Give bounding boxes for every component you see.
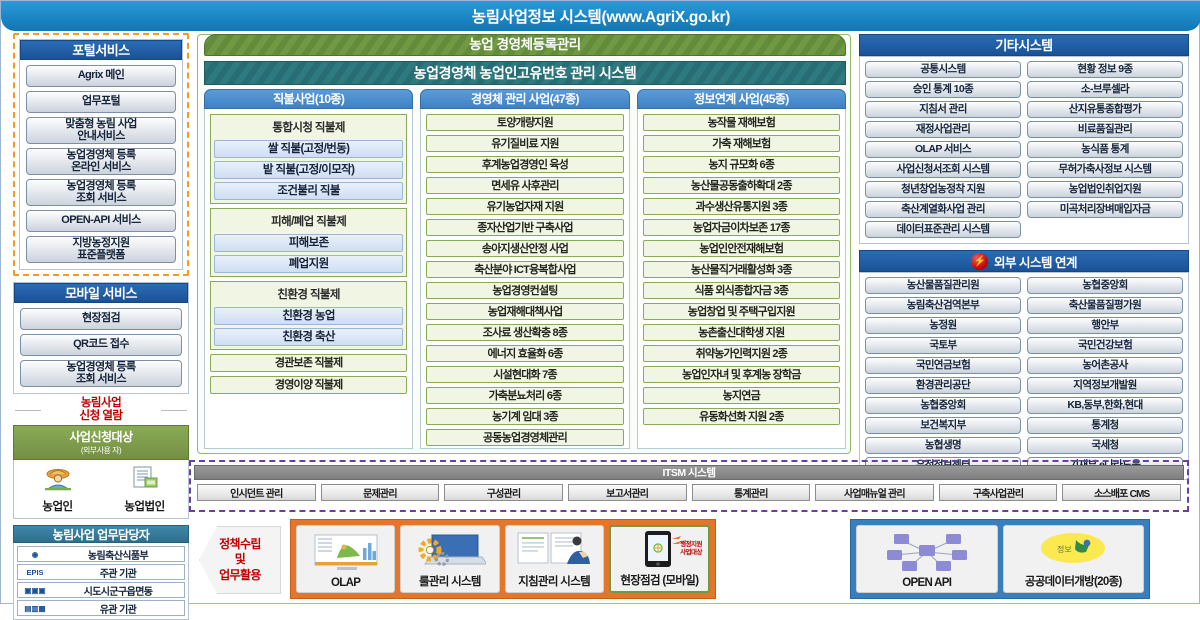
application-target-subtitle: (외부사용 자) [14,445,188,456]
center-columns: 직불사업(10종) 통합시청 직불제쌀 직불(고정/번동)밭 직불(고정/이모작… [204,89,846,449]
external-system-item[interactable]: 국토부 [865,337,1021,354]
portal-item-3[interactable]: 농업경영체 등록온라인 서비스 [26,148,176,175]
arrow-wing-left [15,410,41,411]
epis-logo-icon: EPIS [18,568,52,577]
itsm-item[interactable]: 보고서관리 [568,484,687,501]
direct-payment-group: 친환경 직불제친환경 농업친환경 축산 [210,281,407,350]
column-info-linkage-header: 정보연계 사업(45종) [637,89,846,109]
center-top-title: 농업 경영체등록관리 [204,34,846,56]
info-linkage-item[interactable]: 취약농가인력지원 2종 [643,345,840,362]
staff-row-label: 농림축산식품부 [52,547,184,562]
entity-management-item[interactable]: 시설현대화 7종 [426,366,623,383]
etc-system-item[interactable]: 재정사업관리 [865,121,1021,138]
etc-system-item[interactable]: 무허가축사정보 시스템 [1027,161,1183,178]
info-linkage-item[interactable]: 농지연금 [643,387,840,404]
external-system-item[interactable]: 국민건강보험 [1027,337,1183,354]
info-linkage-item[interactable]: 과수생산유통지원 3종 [643,198,840,215]
external-system-item[interactable]: 행안부 [1027,317,1183,334]
app-card-field-inspection[interactable]: 행정지원사업대상 현장점검 (모바일) [609,525,710,593]
external-system-item[interactable]: 농협중앙회 [1027,277,1183,294]
direct-payment-item[interactable]: 조건불리 직불 [214,182,403,200]
app-card-rule-system[interactable]: 룰관리 시스템 [400,525,499,593]
etc-system-right-list: 현황 정보 9종소-브루셀라산지유통종합평가비료품질관리농식품 통계무허가축사정… [1027,61,1183,238]
itsm-panel: ITSM 시스템 인시던트 관리문제관리구성관리보고서관리통계관리사업매뉴얼 관… [189,460,1189,512]
external-system-item[interactable]: 축산물품질평가원 [1027,297,1183,314]
target-corporation: 농업법인 [101,460,188,518]
direct-payment-solo-item[interactable]: 경관보존 직불제 [210,354,407,372]
direct-payment-item[interactable]: 쌀 직불(고정/번동) [214,140,403,158]
etc-system-item[interactable]: 농식품 통계 [1027,141,1183,158]
staff-panel: 농림사업 업무담당자 ◉농림축산식품부EPIS주관 기관▣▣▣시도시군구읍면동▤… [13,525,189,620]
etc-system-panel: 기타시스템 공통시스템승인 통계 10종지침서 관리재정사업관리OLAP 서비스… [859,34,1189,244]
external-system-item[interactable]: 농산물품질관리원 [865,277,1021,294]
svg-text:정보: 정보 [1057,544,1072,554]
external-system-item[interactable]: 국세청 [1027,437,1183,454]
info-linkage-item[interactable]: 가축 재해보험 [643,135,840,152]
etc-system-item[interactable]: 미곡처리장벼매입자금 [1027,201,1183,218]
info-linkage-item[interactable]: 농업창업 및 주택구입지원 [643,303,840,320]
staff-row-label: 시도시군구읍면동 [52,583,184,598]
entity-management-item[interactable]: 유기질비료 지원 [426,135,623,152]
application-target-body: 농업인 농업법인 [13,460,189,519]
info-linkage-item[interactable]: 농업인자녀 및 후계농 장학금 [643,366,840,383]
external-system-item[interactable]: 농정원 [865,317,1021,334]
itsm-item[interactable]: 사업매뉴얼 관리 [815,484,934,501]
mobile-item-1[interactable]: QR코드 접수 [20,334,182,356]
local-gov-icon: ▣▣▣ [18,586,52,595]
itsm-header: ITSM 시스템 [194,465,1184,480]
related-org-icon: ▤▥▦ [18,604,52,613]
external-system-item[interactable]: 통계청 [1027,417,1183,434]
entity-management-item[interactable]: 공동농업경영체관리 [426,429,623,446]
entity-management-item[interactable]: 송아지생산안정 사업 [426,240,623,257]
portal-service-list: Agrix 메인업무포털맞춤형 농림 사업안내서비스농업경영체 등록온라인 서비… [20,60,182,269]
document-icon [130,465,160,491]
external-system-item[interactable]: 보건복지부 [865,417,1021,434]
orange-app-group: OLAP 룰관리 시스템 [290,519,716,599]
portal-service-header: 포털서비스 [20,40,182,60]
direct-payment-item[interactable]: 친환경 농업 [214,307,403,325]
plug-icon: ⚡ [971,253,988,270]
etc-system-item[interactable]: 비료품질관리 [1027,121,1183,138]
farmer-icon [43,465,73,491]
direct-payment-item[interactable]: 밭 직불(고정/이모작) [214,161,403,179]
staff-row-label: 주관 기관 [52,565,184,580]
info-linkage-item[interactable]: 농작물 재해보험 [643,114,840,131]
portal-item-0[interactable]: Agrix 메인 [26,65,176,87]
entity-management-item[interactable]: 농기계 임대 3종 [426,408,623,425]
portal-item-2[interactable]: 맞춤형 농림 사업안내서비스 [26,117,176,144]
column-info-linkage-body: 농작물 재해보험가축 재해보험농지 규모화 6종농산물공동출하확대 2종과수생산… [637,109,846,449]
itsm-item[interactable]: 문제관리 [321,484,440,501]
itsm-item[interactable]: 인시던트 관리 [197,484,316,501]
external-system-item[interactable]: 농어촌공사 [1027,357,1183,374]
application-target-title: 사업신청대상 [14,428,188,445]
itsm-item[interactable]: 구성관리 [444,484,563,501]
staff-row[interactable]: ◉농림축산식품부 [17,546,185,562]
government-emblem-icon: ◉ [18,550,52,559]
center-panel: 농업 경영체등록관리 농업경영체 농업인고유번호 관리 시스템 직불사업(10종… [197,34,851,454]
portal-service-group: 포털서비스 Agrix 메인업무포털맞춤형 농림 사업안내서비스농업경영체 등록… [13,33,189,276]
portal-item-1[interactable]: 업무포털 [26,91,176,113]
center-sub-title: 농업경영체 농업인고유번호 관리 시스템 [204,61,846,85]
application-flow-label: 농림사업신청 열람 [13,394,189,425]
info-linkage-item[interactable]: 농업자금이차보존 17종 [643,219,840,236]
column-direct-payment: 직불사업(10종) 통합시청 직불제쌀 직불(고정/번동)밭 직불(고정/이모작… [204,89,413,449]
direct-payment-solo-item[interactable]: 경영이양 직불제 [210,376,407,394]
app-card-guideline-system[interactable]: 지침관리 시스템 [505,525,604,593]
etc-system-item[interactable]: 승인 통계 10종 [865,81,1021,98]
entity-management-item[interactable]: 후계농업경영인 육성 [426,156,623,173]
chart-report-icon [297,526,394,577]
column-entity-management-body: 토양개량지원유기질비료 지원후계농업경영인 육성면세유 사후관리유기농업자재 지… [420,109,629,449]
etc-system-body: 공통시스템승인 통계 10종지침서 관리재정사업관리OLAP 서비스사업신청서조… [859,56,1189,244]
application-target-panel: 사업신청대상 (외부사용 자) 농업인 [13,425,189,519]
gear-laptop-icon [401,526,498,573]
entity-management-item[interactable]: 유기농업자재 지원 [426,198,623,215]
app-card-open-api-label: OPEN API [902,577,951,589]
external-system-right-list: 농협중앙회축산물품질평가원행안부국민건강보험농어촌공사지역정보개발원KB,동부,… [1027,277,1183,474]
mobile-item-2[interactable]: 농업경영체 등록조회 서비스 [20,360,182,387]
info-linkage-item[interactable]: 식품 외식종합자금 3종 [643,282,840,299]
app-card-olap-label: OLAP [331,577,360,589]
itsm-item[interactable]: 구축사업관리 [939,484,1058,501]
diagram-canvas: 농림사업정보 시스템(www.AgriX.go.kr) 포털서비스 Agrix … [0,0,1200,604]
external-system-header: ⚡ 외부 시스템 연계 [859,250,1189,272]
entity-management-item[interactable]: 종자산업기반 구축사업 [426,219,623,236]
app-card-guideline-system-label: 지침관리 시스템 [518,573,590,589]
direct-payment-item[interactable]: 피해보존 [214,234,403,252]
etc-system-item[interactable]: 공통시스템 [865,61,1021,78]
portal-item-6[interactable]: 지방농정지원표준플랫폼 [26,236,176,263]
etc-system-item[interactable]: OLAP 서비스 [865,141,1021,158]
entity-management-item[interactable]: 조사료 생산확충 8종 [426,324,623,341]
app-card-field-inspection-label: 현장점검 (모바일) [620,572,698,588]
app-card-open-data[interactable]: 정보 공공데이터개방(20종) [1003,525,1145,593]
page-title: 농림사업정보 시스템(www.AgriX.go.kr) [1,1,1200,31]
mobile-service-panel: 모바일 서비스 현장점검QR코드 접수농업경영체 등록조회 서비스 [13,282,189,394]
staff-row[interactable]: ▣▣▣시도시군구읍면동 [17,582,185,598]
etc-system-item[interactable]: 데이터표준관리 시스템 [865,221,1021,238]
mobile-item-0[interactable]: 현장점검 [20,308,182,330]
info-linkage-item[interactable]: 농산물직거래활성화 3종 [643,261,840,278]
direct-payment-group-title: 친환경 직불제 [214,285,403,304]
network-nodes-icon [857,526,997,577]
etc-system-item[interactable]: 청년창업농정착 지원 [865,181,1021,198]
app-card-rule-system-label: 룰관리 시스템 [419,573,481,589]
entity-management-item[interactable]: 면세유 사후관리 [426,177,623,194]
staff-row[interactable]: EPIS주관 기관 [17,564,185,580]
direct-payment-group: 피해/폐업 직불제피해보존폐업지원 [210,208,407,277]
direct-payment-group-title: 통합시청 직불제 [214,118,403,137]
column-entity-management-header: 경영체 관리 사업(47종) [420,89,629,109]
external-system-lists: 농산물품질관리원농림축산검역본부농정원국토부국민연금보험환경관리공단농협중앙회보… [860,273,1188,479]
etc-system-item[interactable]: 산지유통종합평가 [1027,101,1183,118]
external-system-item[interactable]: 농협중앙회 [865,397,1021,414]
external-system-item[interactable]: 국민연금보험 [865,357,1021,374]
etc-system-item[interactable]: 축산계열화사업 관리 [865,201,1021,218]
blue-app-group: OPEN API 정보 공공데이터개방(20종) [850,519,1150,599]
target-farmer-label: 농업인 [14,498,101,514]
column-info-linkage: 정보연계 사업(45종) 농작물 재해보험가축 재해보험농지 규모화 6종농산물… [637,89,846,449]
guideline-person-icon [506,526,603,573]
staff-row[interactable]: ▤▥▦유관 기관 [17,600,185,616]
app-card-open-data-label: 공공데이터개방(20종) [1025,573,1122,589]
column-direct-payment-header: 직불사업(10종) [204,89,413,109]
etc-system-item[interactable]: 현황 정보 9종 [1027,61,1183,78]
etc-system-left-list: 공통시스템승인 통계 10종지침서 관리재정사업관리OLAP 서비스사업신청서조… [865,61,1021,238]
target-farmer: 농업인 [14,460,101,518]
external-system-left-list: 농산물품질관리원농림축산검역본부농정원국토부국민연금보험환경관리공단농협중앙회보… [865,277,1021,474]
policy-chevron-label: 정책수립및업무활용 [219,537,261,584]
portal-item-5[interactable]: OPEN-API 서비스 [26,210,176,232]
etc-system-item[interactable]: 농업법인취업지원 [1027,181,1183,198]
external-system-item[interactable]: 농협생명 [865,437,1021,454]
entity-management-item[interactable]: 농업경영컨설팅 [426,282,623,299]
staff-row-label: 유관 기관 [52,601,184,616]
portal-item-4[interactable]: 농업경영체 등록조회 서비스 [26,179,176,206]
info-linkage-item[interactable]: 농산물공동출하확대 2종 [643,177,840,194]
portal-service-panel: 포털서비스 Agrix 메인업무포털맞춤형 농림 사업안내서비스농업경영체 등록… [19,39,183,270]
external-system-body: 농산물품질관리원농림축산검역본부농정원국토부국민연금보험환경관리공단농협중앙회보… [859,272,1189,480]
entity-management-item[interactable]: 농업재해대책사업 [426,303,623,320]
column-entity-management: 경영체 관리 사업(47종) 토양개량지원유기질비료 지원후계농업경영인 육성면… [420,89,629,449]
external-system-item[interactable]: 농림축산검역본부 [865,297,1021,314]
staff-list: ◉농림축산식품부EPIS주관 기관▣▣▣시도시군구읍면동▤▥▦유관 기관 [13,543,189,620]
external-system-item[interactable]: 환경관리공단 [865,377,1021,394]
entity-management-item[interactable]: 에너지 효율화 6종 [426,345,623,362]
external-system-item[interactable]: KB,동부,한화,현대 [1027,397,1183,414]
entity-management-item[interactable]: 축산분야 ICT융복합사업 [426,261,623,278]
itsm-items: 인시던트 관리문제관리구성관리보고서관리통계관리사업매뉴얼 관리구축사업관리소스… [194,480,1184,501]
target-corporation-label: 농업법인 [101,498,188,514]
etc-system-item[interactable]: 소-브루셀라 [1027,81,1183,98]
mobile-service-list: 현장점검QR코드 접수농업경영체 등록조회 서비스 [14,303,188,393]
entity-management-item[interactable]: 토양개량지원 [426,114,623,131]
external-system-item[interactable]: 지역정보개발원 [1027,377,1183,394]
etc-system-item[interactable]: 지침서 관리 [865,101,1021,118]
open-data-icon: 정보 [1004,526,1144,573]
info-linkage-item[interactable]: 유동화선화 지원 2종 [643,408,840,425]
itsm-item[interactable]: 소스배포 CMS [1062,484,1181,501]
info-linkage-item[interactable]: 농업인안전재해보험 [643,240,840,257]
right-sidebar: 기타시스템 공통시스템승인 통계 10종지침서 관리재정사업관리OLAP 서비스… [859,34,1189,480]
direct-payment-item[interactable]: 폐업지원 [214,255,403,273]
entity-management-item[interactable]: 가축분뇨처리 6종 [426,387,623,404]
external-system-header-text: 외부 시스템 연계 [994,252,1077,271]
arrow-wing-right [161,410,187,411]
column-direct-payment-body: 통합시청 직불제쌀 직불(고정/번동)밭 직불(고정/이모작)조건불리 직불피해… [204,109,413,449]
app-card-open-api[interactable]: OPEN API [856,525,998,593]
info-linkage-item[interactable]: 농지 규모화 6종 [643,156,840,173]
itsm-item[interactable]: 통계관리 [692,484,811,501]
direct-payment-group-title: 피해/폐업 직불제 [214,212,403,231]
info-linkage-item[interactable]: 농촌출신대학생 지원 [643,324,840,341]
external-system-panel: ⚡ 외부 시스템 연계 농산물품질관리원농림축산검역본부농정원국토부국민연금보험… [859,250,1189,480]
left-sidebar: 포털서비스 Agrix 메인업무포털맞춤형 농림 사업안내서비스농업경영체 등록… [13,33,189,620]
app-card-olap[interactable]: OLAP [296,525,395,593]
etc-system-item[interactable]: 사업신청서조회 시스템 [865,161,1021,178]
etc-system-lists: 공통시스템승인 통계 10종지침서 관리재정사업관리OLAP 서비스사업신청서조… [860,57,1188,243]
etc-system-header: 기타시스템 [859,34,1189,56]
policy-chevron: 정책수립및업무활용 [197,522,283,598]
field-inspection-note: 행정지원사업대상 [680,541,702,557]
direct-payment-group: 통합시청 직불제쌀 직불(고정/번동)밭 직불(고정/이모작)조건불리 직불 [210,114,407,204]
application-target-header: 사업신청대상 (외부사용 자) [13,425,189,460]
direct-payment-item[interactable]: 친환경 축산 [214,328,403,346]
mobile-service-header: 모바일 서비스 [14,283,188,303]
staff-header: 농림사업 업무담당자 [13,525,189,543]
page-title-text: 농림사업정보 시스템(www.AgriX.go.kr) [472,5,730,27]
